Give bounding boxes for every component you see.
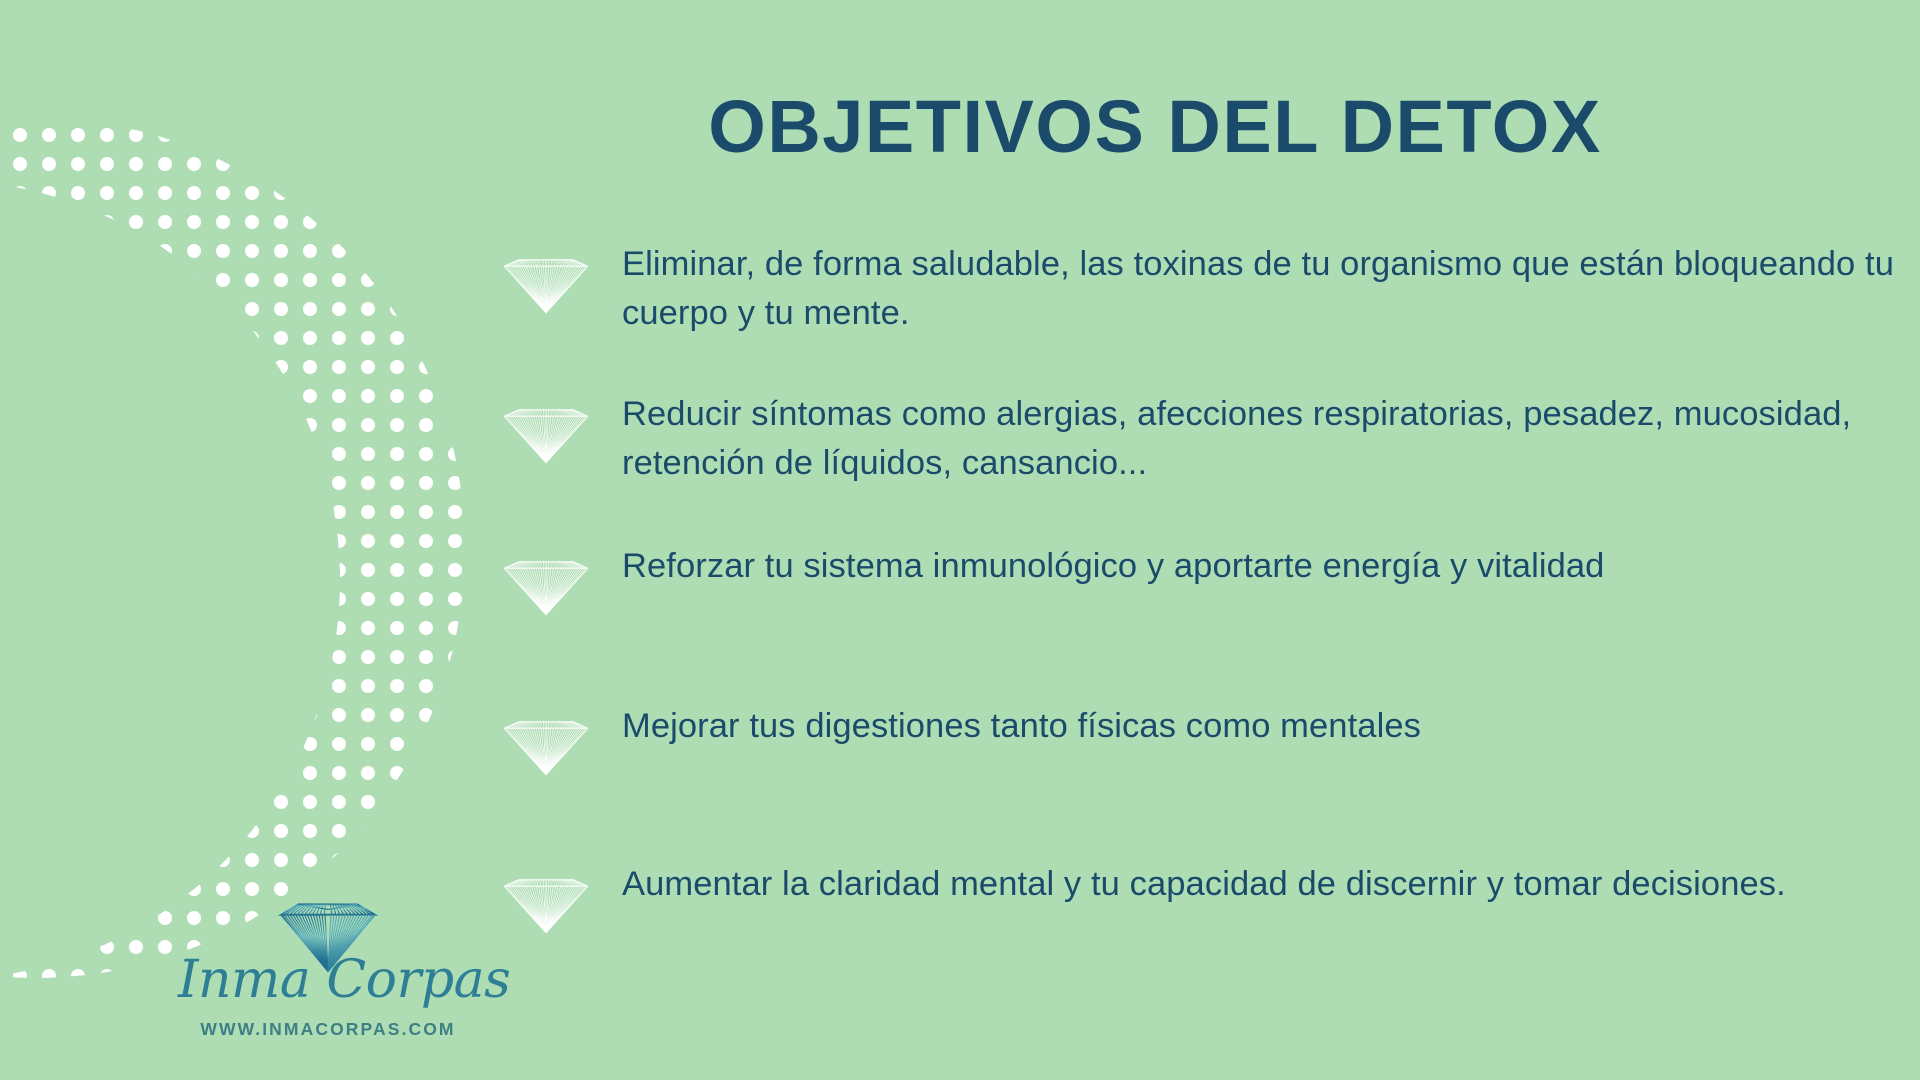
brand-name: Inma Corpas <box>178 954 478 1006</box>
list-item: Aumentar la claridad mental y tu capacid… <box>498 860 1786 934</box>
list-item: Reforzar tu sistema inmunológico y aport… <box>498 542 1604 616</box>
brand-website: WWW.INMACORPAS.COM <box>178 1019 478 1040</box>
page-title: OBJETIVOS DEL DETOX <box>470 88 1840 166</box>
list-item-label: Mejorar tus digestiones tanto físicas co… <box>622 702 1421 751</box>
list-item-label: Reducir síntomas como alergias, afeccion… <box>622 390 1898 488</box>
diamond-gem-icon <box>498 544 594 618</box>
list-item: Eliminar, de forma saludable, las toxina… <box>498 240 1898 338</box>
list-item-label: Eliminar, de forma saludable, las toxina… <box>622 240 1898 338</box>
list-item-label: Aumentar la claridad mental y tu capacid… <box>622 860 1786 909</box>
list-item: Mejorar tus digestiones tanto físicas co… <box>498 702 1421 776</box>
brand-logo[interactable]: Inma Corpas WWW.INMACORPAS.COM <box>178 888 478 1040</box>
list-item-label: Reforzar tu sistema inmunológico y aport… <box>622 542 1604 591</box>
title-container: OBJETIVOS DEL DETOX <box>470 88 1920 166</box>
diamond-gem-icon <box>498 704 594 778</box>
diamond-gem-icon <box>498 242 594 316</box>
diamond-gem-icon <box>498 392 594 466</box>
list-item: Reducir síntomas como alergias, afeccion… <box>498 390 1898 488</box>
diamond-gem-icon <box>498 862 594 936</box>
